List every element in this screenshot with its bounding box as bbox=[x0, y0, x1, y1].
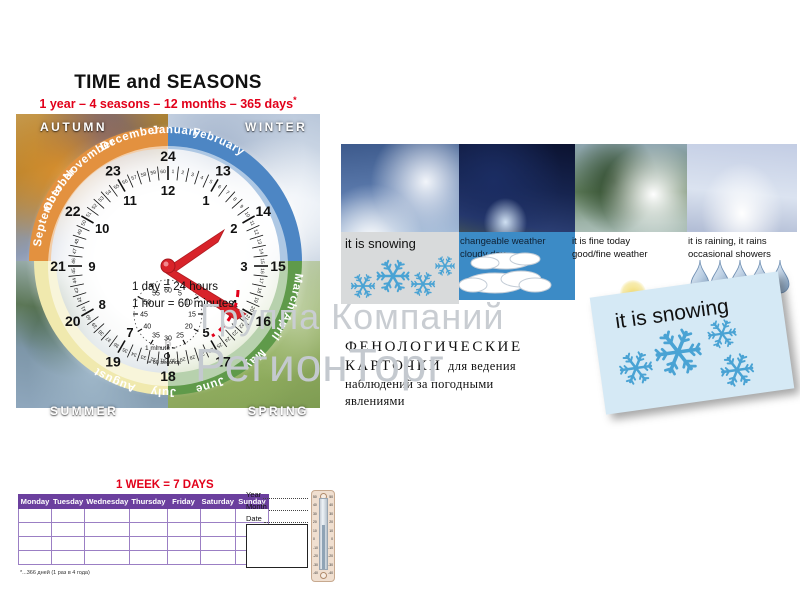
week-cell[interactable] bbox=[85, 523, 130, 537]
thermometer-tick-0: 0 bbox=[313, 537, 315, 541]
hour-outer-22: 22 bbox=[65, 203, 81, 219]
minute-tick-45: 45 bbox=[71, 268, 77, 274]
observation-row-year[interactable]: Year bbox=[246, 490, 308, 499]
hour-outer-16: 16 bbox=[255, 313, 271, 329]
snowflake-icon bbox=[707, 319, 737, 349]
minute-dial-line-2: = 60 seconds bbox=[148, 360, 181, 366]
thermometer-tick-0: 0 bbox=[331, 537, 333, 541]
hour-outer-19: 19 bbox=[105, 353, 121, 369]
thermometer-tick--20: -20 bbox=[313, 554, 318, 558]
minute-tick-46: 46 bbox=[71, 258, 77, 264]
week-table-header-row: MondayTuesdayWednesdayThursdayFridaySatu… bbox=[19, 495, 269, 509]
week-cell[interactable] bbox=[167, 537, 200, 551]
second-mark-15: 15 bbox=[188, 312, 196, 319]
poster-subtitle-asterisk: * bbox=[293, 95, 297, 105]
thermometer-icon: 5050404030302020101000-10-10-20-20-30-30… bbox=[311, 490, 335, 582]
russian-line-2-rest: для ведения bbox=[448, 359, 516, 373]
minute-tick-17: 17 bbox=[257, 277, 264, 284]
time-and-seasons-poster: TIME and SEASONS 1 year – 4 seasons – 12… bbox=[8, 62, 328, 527]
thermometer-tick--40: -40 bbox=[313, 571, 318, 575]
snowflake-icon bbox=[412, 273, 435, 295]
observation-drawing-box[interactable] bbox=[246, 524, 308, 568]
table-row bbox=[19, 509, 269, 523]
month-label: Month bbox=[246, 502, 267, 511]
hour-outer-15: 15 bbox=[270, 258, 286, 274]
week-day-header-4: Friday bbox=[167, 495, 200, 509]
month-input-line[interactable] bbox=[269, 502, 308, 511]
poster-subtitle-text: 1 year – 4 seasons – 12 months – 365 day… bbox=[39, 97, 293, 111]
thermometer-tick-50: 50 bbox=[313, 495, 317, 499]
second-mark-35: 35 bbox=[152, 332, 160, 339]
hour-inner-2: 2 bbox=[230, 221, 237, 236]
minute-tick-47: 47 bbox=[72, 248, 79, 255]
changeable-line-1: changeable weather bbox=[460, 236, 546, 249]
date-label: Date bbox=[246, 514, 262, 523]
week-cell[interactable] bbox=[130, 551, 167, 565]
second-mark-40: 40 bbox=[143, 324, 151, 331]
week-cell[interactable] bbox=[52, 537, 85, 551]
thermometer-tick-50: 50 bbox=[329, 495, 333, 499]
snowflake-icon bbox=[352, 275, 375, 297]
week-cell[interactable] bbox=[52, 551, 85, 565]
clock-day-equation: 1 day = 24 hours bbox=[132, 281, 218, 293]
week-cell[interactable] bbox=[167, 509, 200, 523]
week-cell[interactable] bbox=[200, 523, 236, 537]
second-mark-30: 30 bbox=[164, 336, 172, 343]
observation-fields: Year Month Date bbox=[246, 490, 308, 526]
hour-inner-5: 5 bbox=[202, 325, 209, 340]
observation-row-month[interactable]: Month bbox=[246, 502, 308, 511]
snowflake-icon-group bbox=[341, 252, 461, 304]
minute-tick-1: 1 bbox=[171, 169, 174, 175]
week-cell[interactable] bbox=[52, 523, 85, 537]
minute-tick-60: 60 bbox=[160, 169, 166, 175]
week-cell[interactable] bbox=[200, 537, 236, 551]
week-title: 1 WEEK = 7 DAYS bbox=[116, 479, 214, 491]
cloud-icon-group bbox=[459, 252, 577, 302]
week-cell[interactable] bbox=[85, 509, 130, 523]
minute-tick-59: 59 bbox=[150, 170, 157, 177]
snowflake-icon bbox=[618, 351, 653, 385]
week-table: MondayTuesdayWednesdayThursdayFridaySatu… bbox=[18, 494, 269, 565]
table-row bbox=[19, 537, 269, 551]
snowflake-icon bbox=[436, 257, 455, 275]
week-cell[interactable] bbox=[85, 537, 130, 551]
thermometer-scale: 5050404030302020101000-10-10-20-20-30-30… bbox=[312, 497, 334, 573]
week-day-header-0: Monday bbox=[19, 495, 52, 509]
week-cell[interactable] bbox=[130, 509, 167, 523]
minute-tick-14: 14 bbox=[257, 248, 264, 255]
thermometer-tick--30: -30 bbox=[313, 563, 318, 567]
hour-outer-17: 17 bbox=[215, 353, 231, 369]
week-cell[interactable] bbox=[167, 523, 200, 537]
hour-outer-13: 13 bbox=[215, 163, 231, 179]
thermometer-tick--30: -30 bbox=[328, 563, 333, 567]
fine-line-1: it is fine today bbox=[572, 236, 648, 249]
thermometer-tick--20: -20 bbox=[328, 554, 333, 558]
hour-inner-11: 11 bbox=[123, 193, 137, 208]
week-cell[interactable] bbox=[19, 537, 52, 551]
hour-inner-1: 1 bbox=[202, 193, 209, 208]
russian-line-2-strong: КАРТОЧКИ bbox=[345, 358, 442, 374]
thermometer-tick-40: 40 bbox=[313, 503, 317, 507]
hour-outer-18: 18 bbox=[160, 368, 176, 384]
week-table-body bbox=[19, 509, 269, 565]
observation-row-date[interactable]: Date bbox=[246, 514, 308, 523]
poster-subtitle: 1 year – 4 seasons – 12 months – 365 day… bbox=[8, 95, 328, 111]
date-input-line[interactable] bbox=[264, 514, 308, 523]
russian-line-1: ФЕНОЛОГИЧЕСКИЕ bbox=[345, 338, 595, 357]
snowflake-icon bbox=[377, 261, 408, 291]
hour-outer-24: 24 bbox=[160, 148, 176, 164]
thermometer-tick-10: 10 bbox=[329, 529, 333, 533]
russian-line-4: явлениями bbox=[345, 393, 595, 410]
hour-inner-8: 8 bbox=[99, 297, 106, 312]
minute-dial-line-1: 1 minute = bbox=[145, 345, 176, 352]
hour-inner-9: 9 bbox=[88, 259, 95, 274]
thermometer-tick-20: 20 bbox=[313, 520, 317, 524]
thermometer-tick-10: 10 bbox=[313, 529, 317, 533]
season-label-autumn: AUTUMN bbox=[40, 120, 107, 134]
week-cell[interactable] bbox=[19, 509, 52, 523]
clock-hour-equation: 1 hour = 60 minutes bbox=[132, 298, 234, 310]
hour-outer-14: 14 bbox=[255, 203, 271, 219]
season-label-summer: SUMMER bbox=[50, 404, 118, 418]
hour-outer-23: 23 bbox=[105, 163, 121, 179]
hour-inner-12: 12 bbox=[161, 183, 175, 198]
russian-description-block: ФЕНОЛОГИЧЕСКИЕ КАРТОЧКИ для ведения набл… bbox=[345, 338, 595, 410]
hour-outer-21: 21 bbox=[50, 258, 66, 274]
snowflake-icon bbox=[654, 328, 703, 376]
thermometer-tick--10: -10 bbox=[313, 546, 318, 550]
hour-outer-20: 20 bbox=[65, 313, 81, 329]
week-cell[interactable] bbox=[19, 551, 52, 565]
year-label: Year bbox=[246, 490, 261, 499]
thermometer-tick-30: 30 bbox=[329, 512, 333, 516]
season-label-winter: WINTER bbox=[245, 120, 307, 134]
snowflake-icon bbox=[720, 353, 755, 387]
week-cell[interactable] bbox=[52, 509, 85, 523]
thermometer-bulb bbox=[320, 572, 327, 579]
russian-line-2: КАРТОЧКИ для ведения bbox=[345, 357, 595, 376]
second-mark-20: 20 bbox=[185, 324, 193, 331]
thermometer-tick-20: 20 bbox=[329, 520, 333, 524]
minute-tick-15: 15 bbox=[259, 258, 265, 264]
week-cell[interactable] bbox=[200, 551, 236, 565]
raining-line-1: it is raining, it rains bbox=[688, 236, 771, 249]
week-cell[interactable] bbox=[200, 509, 236, 523]
season-label-spring: SPRING bbox=[248, 404, 309, 418]
hour-inner-7: 7 bbox=[126, 325, 133, 340]
fine-line-2: good/fine weather bbox=[572, 249, 648, 262]
thermometer-tick--40: -40 bbox=[328, 571, 333, 575]
week-day-header-2: Wednesday bbox=[85, 495, 130, 509]
weather-caption-fine: it is fine today good/fine weather bbox=[572, 236, 648, 261]
minute-tick-44: 44 bbox=[72, 277, 79, 284]
poster-footnote: *...366 дней (1 раз в 4 года) bbox=[20, 570, 90, 576]
russian-line-3: наблюдений за погодными bbox=[345, 376, 595, 393]
week-day-header-1: Tuesday bbox=[52, 495, 85, 509]
week-cell[interactable] bbox=[19, 523, 52, 537]
week-cell[interactable] bbox=[130, 537, 167, 551]
table-row bbox=[19, 523, 269, 537]
second-mark-25: 25 bbox=[176, 332, 184, 339]
hour-inner-3: 3 bbox=[240, 259, 247, 274]
minute-dial-dot-icon bbox=[164, 353, 170, 359]
thermometer-tick-30: 30 bbox=[313, 512, 317, 516]
table-row bbox=[19, 551, 269, 565]
hour-inner-10: 10 bbox=[95, 221, 109, 236]
thermometer-tick--10: -10 bbox=[328, 546, 333, 550]
week-cell[interactable] bbox=[85, 551, 130, 565]
week-day-header-3: Thursday bbox=[130, 495, 167, 509]
year-input-line[interactable] bbox=[263, 490, 308, 499]
snowing-flashcard[interactable]: it is snowing bbox=[590, 271, 795, 414]
week-cell[interactable] bbox=[167, 551, 200, 565]
week-day-header-5: Saturday bbox=[200, 495, 236, 509]
weather-caption-snowing: it is snowing bbox=[345, 238, 416, 251]
page-title: TIME and SEASONS bbox=[8, 72, 328, 94]
minute-tick-16: 16 bbox=[259, 268, 265, 274]
second-mark-45: 45 bbox=[140, 312, 148, 319]
thermometer-tick-40: 40 bbox=[329, 503, 333, 507]
week-cell[interactable] bbox=[130, 523, 167, 537]
